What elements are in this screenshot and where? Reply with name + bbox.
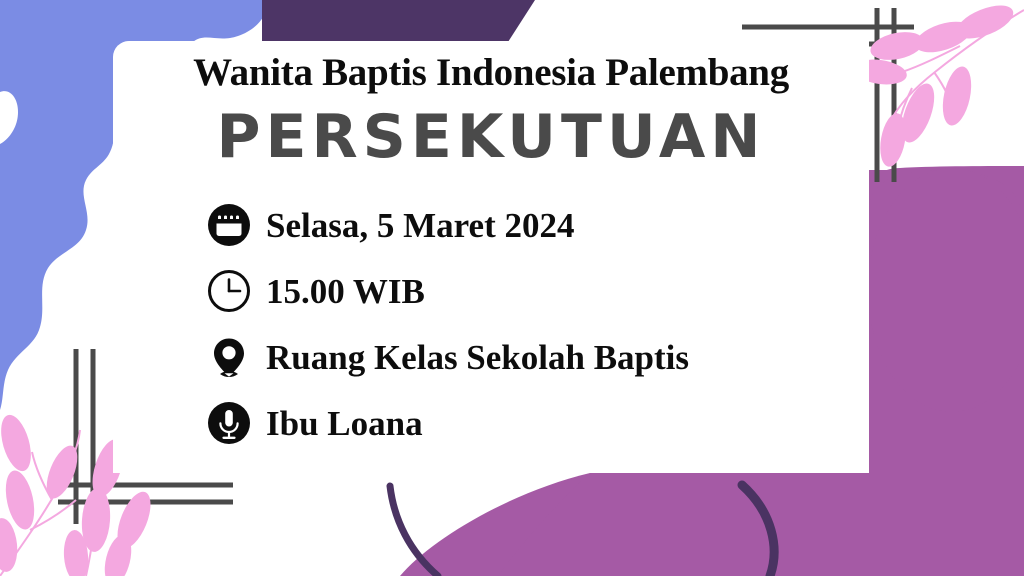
detail-row-time: 15.00 WIB (206, 258, 689, 324)
detail-label-time: 15.00 WIB (266, 274, 425, 309)
microphone-icon (206, 400, 252, 446)
organization-title: Wanita Baptis Indonesia Palembang (113, 50, 869, 95)
detail-row-speaker: Ibu Loana (206, 390, 689, 456)
calendar-icon (206, 202, 252, 248)
detail-label-date: Selasa, 5 Maret 2024 (266, 208, 574, 243)
detail-row-location: Ruang Kelas Sekolah Baptis (206, 324, 689, 390)
detail-label-speaker: Ibu Loana (266, 406, 423, 441)
event-details-list: Selasa, 5 Maret 2024 15.00 WIB (206, 192, 689, 456)
location-pin-icon (206, 334, 252, 380)
detail-label-location: Ruang Kelas Sekolah Baptis (266, 340, 689, 375)
event-title: PERSEKUTUAN (113, 102, 869, 172)
poster-canvas: Wanita Baptis Indonesia Palembang PERSEK… (0, 0, 1024, 576)
clock-icon (206, 268, 252, 314)
detail-row-date: Selasa, 5 Maret 2024 (206, 192, 689, 258)
